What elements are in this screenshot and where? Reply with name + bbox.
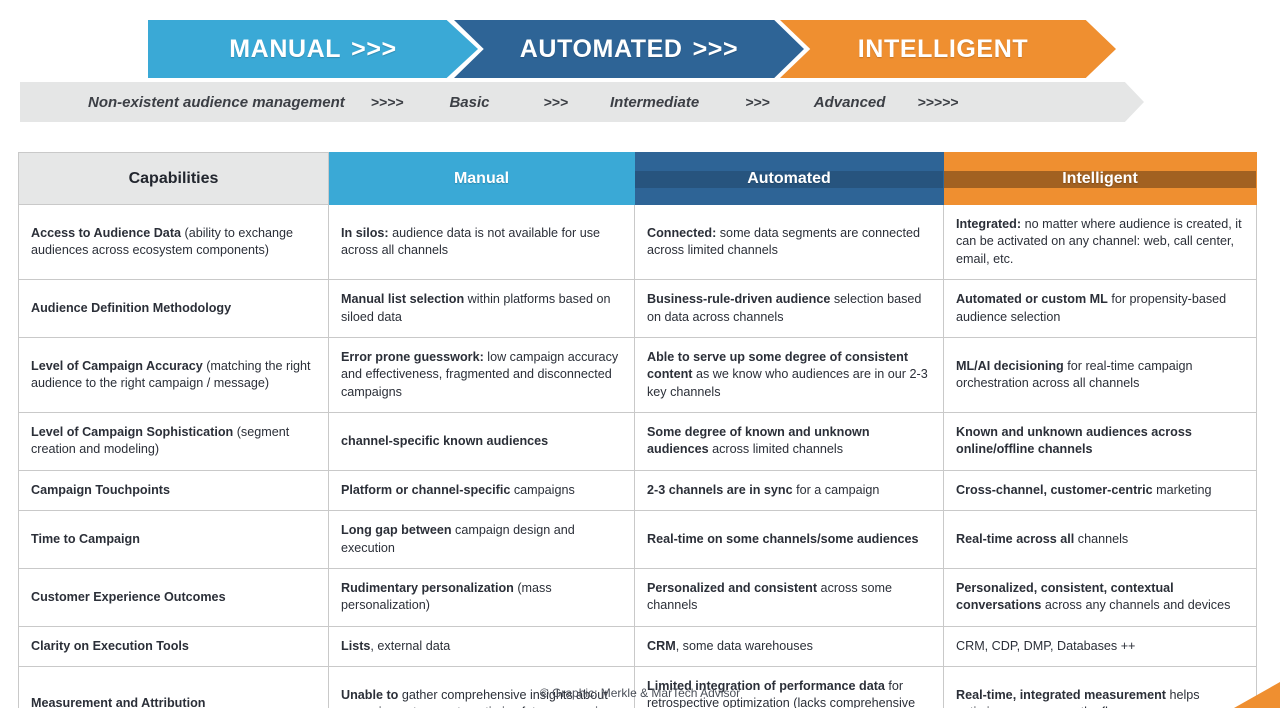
- table-row: Audience Definition MethodologyManual li…: [19, 280, 1257, 338]
- intelligent-cell-emphasis: Real-time across all: [956, 532, 1074, 546]
- capability-cell: Level of Campaign Sophistication (segmen…: [19, 413, 329, 471]
- maturity-level-1: Basic: [449, 94, 489, 111]
- automated-cell: Business-rule-driven audience selection …: [635, 280, 944, 338]
- table-body: Access to Audience Data (ability to exch…: [19, 205, 1257, 708]
- capability-cell-emphasis: Level of Campaign Accuracy: [31, 359, 203, 373]
- automated-cell: CRM, some data warehouses: [635, 626, 944, 666]
- capability-cell-emphasis: Access to Audience Data: [31, 226, 181, 240]
- table-row: Time to CampaignLong gap between campaig…: [19, 511, 1257, 569]
- capability-cell: Customer Experience Outcomes: [19, 568, 329, 626]
- stage-chevron-manual: MANUAL >>>: [148, 20, 478, 78]
- table-row: Customer Experience OutcomesRudimentary …: [19, 568, 1257, 626]
- table-row: Clarity on Execution ToolsLists, externa…: [19, 626, 1257, 666]
- table-row: Level of Campaign Sophistication (segmen…: [19, 413, 1257, 471]
- manual-cell-emphasis: channel-specific known audiences: [341, 434, 548, 448]
- capability-cell: Time to Campaign: [19, 511, 329, 569]
- automated-cell-emphasis: Business-rule-driven audience: [647, 292, 830, 306]
- intelligent-cell-detail: channels: [1074, 532, 1128, 546]
- intelligent-cell-emphasis: Integrated:: [956, 217, 1021, 231]
- intelligent-cell-emphasis: ML/AI decisioning: [956, 359, 1064, 373]
- manual-cell: Platform or channel-specific campaigns: [329, 470, 635, 510]
- capability-cell-emphasis: Audience Definition Methodology: [31, 301, 231, 315]
- intelligent-cell-emphasis: Known and unknown audiences across onlin…: [956, 425, 1192, 456]
- manual-cell: Rudimentary personalization (mass person…: [329, 568, 635, 626]
- intelligent-cell: Real-time across all channels: [944, 511, 1257, 569]
- maturity-stage-banner: MANUAL >>> AUTOMATED >>> INTELLIGENT: [148, 20, 1136, 78]
- automated-cell-emphasis: Connected:: [647, 226, 716, 240]
- automated-cell-emphasis: CRM: [647, 639, 676, 653]
- manual-cell: In silos: audience data is not available…: [329, 205, 635, 280]
- stage-label-automated: AUTOMATED: [520, 35, 683, 64]
- capability-cell: Audience Definition Methodology: [19, 280, 329, 338]
- automated-cell-detail: , some data warehouses: [676, 639, 813, 653]
- table-row: Access to Audience Data (ability to exch…: [19, 205, 1257, 280]
- automated-cell: Connected: some data segments are connec…: [635, 205, 944, 280]
- automated-cell: Personalized and consistent across some …: [635, 568, 944, 626]
- maturity-matrix-infographic: MANUAL >>> AUTOMATED >>> INTELLIGENT Non…: [0, 0, 1280, 708]
- automated-cell: Some degree of known and unknown audienc…: [635, 413, 944, 471]
- manual-cell-emphasis: Lists: [341, 639, 370, 653]
- automated-cell: 2-3 channels are in sync for a campaign: [635, 470, 944, 510]
- intelligent-cell: Personalized, consistent, contextual con…: [944, 568, 1257, 626]
- manual-cell: Error prone guesswork: low campaign accu…: [329, 337, 635, 412]
- manual-cell-emphasis: Long gap between: [341, 523, 452, 537]
- stage-label-intelligent: INTELLIGENT: [858, 35, 1028, 64]
- automated-cell-emphasis: Real-time on some channels/some audience…: [647, 532, 919, 546]
- capability-cell: Level of Campaign Accuracy (matching the…: [19, 337, 329, 412]
- maturity-separator-0: >>>>: [371, 94, 404, 110]
- intelligent-cell-emphasis: Automated or custom ML: [956, 292, 1108, 306]
- manual-cell-emphasis: Platform or channel-specific: [341, 483, 510, 497]
- manual-cell-detail: campaigns: [510, 483, 574, 497]
- maturity-level-3: Advanced: [814, 94, 886, 111]
- chevron-arrows-icon: >>>: [693, 35, 739, 64]
- intelligent-cell: ML/AI decisioning for real-time campaign…: [944, 337, 1257, 412]
- manual-cell-detail: , external data: [370, 639, 450, 653]
- manual-cell-emphasis: Rudimentary personalization: [341, 581, 514, 595]
- manual-cell: Lists, external data: [329, 626, 635, 666]
- intelligent-cell: Cross-channel, customer-centric marketin…: [944, 470, 1257, 510]
- intelligent-cell-emphasis: Cross-channel, customer-centric: [956, 483, 1153, 497]
- stage-chevron-intelligent: INTELLIGENT: [780, 20, 1116, 78]
- automated-cell-emphasis: 2-3 channels are in sync: [647, 483, 793, 497]
- stage-chevron-automated: AUTOMATED >>>: [454, 20, 804, 78]
- manual-cell-emphasis: Manual list selection: [341, 292, 464, 306]
- automated-cell: Real-time on some channels/some audience…: [635, 511, 944, 569]
- capability-cell: Access to Audience Data (ability to exch…: [19, 205, 329, 280]
- maturity-level-2: Intermediate: [610, 94, 699, 111]
- column-header-automated: Automated: [635, 153, 944, 205]
- automated-cell: Able to serve up some degree of consiste…: [635, 337, 944, 412]
- manual-cell: Manual list selection within platforms b…: [329, 280, 635, 338]
- maturity-separator-3: >>>>>: [917, 94, 958, 110]
- capability-matrix-table: Capabilities Manual Automated Intelligen…: [18, 152, 1257, 708]
- table-header-row: Capabilities Manual Automated Intelligen…: [19, 153, 1257, 205]
- manual-cell: Long gap between campaign design and exe…: [329, 511, 635, 569]
- capability-cell-emphasis: Clarity on Execution Tools: [31, 639, 189, 653]
- intelligent-cell: Automated or custom ML for propensity-ba…: [944, 280, 1257, 338]
- table-row: Campaign TouchpointsPlatform or channel-…: [19, 470, 1257, 510]
- chevron-arrows-icon: >>>: [351, 35, 397, 64]
- maturity-separator-1: >>>: [543, 94, 568, 110]
- maturity-separator-2: >>>: [745, 94, 770, 110]
- automated-cell-detail: across limited channels: [709, 442, 843, 456]
- intelligent-cell-detail: across any channels and devices: [1041, 598, 1230, 612]
- intelligent-cell: Known and unknown audiences across onlin…: [944, 413, 1257, 471]
- column-header-intelligent: Intelligent: [944, 153, 1257, 205]
- credit-line: © Graphic: Merkle & MarTech Advisor: [0, 686, 1280, 700]
- capability-cell-emphasis: Level of Campaign Sophistication: [31, 425, 233, 439]
- intelligent-cell: CRM, CDP, DMP, Databases ++: [944, 626, 1257, 666]
- capability-cell: Campaign Touchpoints: [19, 470, 329, 510]
- table-row: Level of Campaign Accuracy (matching the…: [19, 337, 1257, 412]
- automated-cell-detail: for a campaign: [793, 483, 880, 497]
- column-header-manual: Manual: [329, 153, 635, 205]
- manual-cell: channel-specific known audiences: [329, 413, 635, 471]
- intelligent-cell: Integrated: no matter where audience is …: [944, 205, 1257, 280]
- maturity-level-0: Non-existent audience management: [88, 94, 345, 111]
- manual-cell-emphasis: Error prone guesswork:: [341, 350, 484, 364]
- stage-label-manual: MANUAL: [229, 35, 341, 64]
- capability-cell-emphasis: Time to Campaign: [31, 532, 140, 546]
- automated-cell-emphasis: Personalized and consistent: [647, 581, 817, 595]
- manual-cell-emphasis: In silos:: [341, 226, 389, 240]
- intelligent-cell-detail: CRM, CDP, DMP, Databases ++: [956, 639, 1135, 653]
- intelligent-cell-detail: marketing: [1153, 483, 1212, 497]
- capability-cell-emphasis: Customer Experience Outcomes: [31, 590, 226, 604]
- capability-cell: Clarity on Execution Tools: [19, 626, 329, 666]
- column-header-capabilities: Capabilities: [19, 153, 329, 205]
- capability-cell-emphasis: Campaign Touchpoints: [31, 483, 170, 497]
- maturity-progression-bar: Non-existent audience management >>>> Ba…: [20, 82, 1144, 122]
